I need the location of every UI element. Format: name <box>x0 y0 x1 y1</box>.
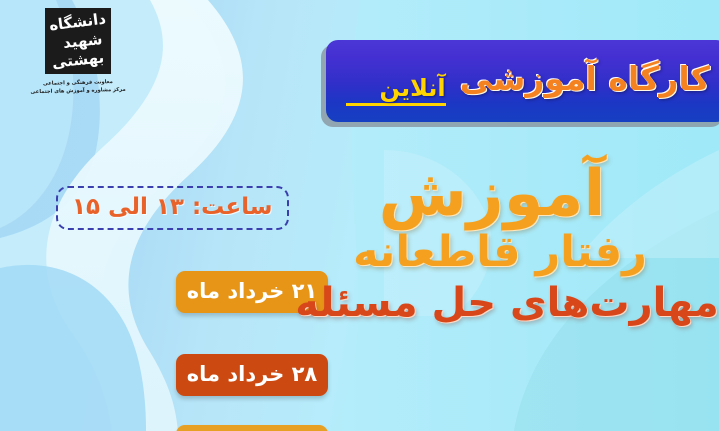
workshop-banner-body: کارگاه آموزشی آنلاین <box>326 40 719 122</box>
university-logo: دانشگاه شهید بهشتی معاونت فرهنگی و اجتما… <box>22 8 134 95</box>
workshop-banner-online-label: آنلاین <box>346 74 446 106</box>
logo-subtitle-line-2: مرکز مشاوره و آموزش های اجتماعی <box>22 86 134 97</box>
university-logo-mark: دانشگاه شهید بهشتی <box>45 8 111 74</box>
time-badge-label: ساعت: ۱۳ الی ۱۵ <box>72 194 273 220</box>
date-badge-2-label: ۲۸ خرداد ماه <box>187 362 318 386</box>
date-badge-2: ۲۸ خرداد ماه <box>176 354 328 396</box>
headline-line-3: مهارت‌های حل مسئله <box>293 283 719 323</box>
poster-root: دانشگاه شهید بهشتی معاونت فرهنگی و اجتما… <box>0 0 719 431</box>
university-logo-subtitle: معاونت فرهنگی و اجتماعی مرکز مشاوره و آم… <box>22 78 134 97</box>
headline-line-1: آموزش <box>293 164 691 225</box>
workshop-banner: کارگاه آموزشی آنلاین <box>321 40 719 122</box>
time-badge: ساعت: ۱۳ الی ۱۵ <box>56 186 289 230</box>
headline-line-2: رفتار قاطعانه <box>293 231 707 274</box>
workshop-banner-title: کارگاه آموزشی <box>460 59 710 98</box>
logo-mark-line-3: بهشتی <box>51 48 105 71</box>
headline-stack: آموزش رفتار قاطعانه مهارت‌های حل مسئله <box>293 164 713 329</box>
date-badge-3 <box>176 425 328 431</box>
